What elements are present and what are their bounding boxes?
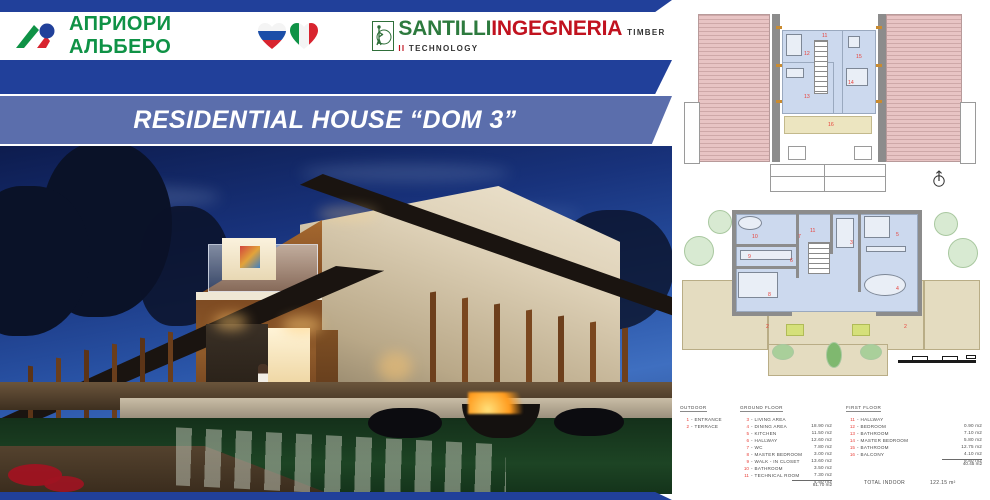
terrace-outline — [770, 164, 886, 192]
room-schedule-legend: OUTDOOR 1 - ENTRANCE 2 - TERRACE — [678, 396, 984, 496]
room-number: 11 — [822, 33, 827, 39]
legend-heading: OUTDOOR — [680, 405, 707, 412]
staircase — [814, 40, 828, 94]
legend-row: 2 - TERRACE — [680, 423, 736, 430]
legend-number: 11 — [740, 472, 749, 479]
bathtub — [738, 216, 762, 230]
plan-tree — [934, 212, 958, 236]
archer-icon — [372, 21, 394, 51]
legend-heading: GROUND FLOOR — [740, 405, 783, 412]
legend-number: 16 — [846, 451, 855, 458]
legend-number: 1 — [680, 416, 689, 423]
title-banner: RESIDENTIAL HOUSE “DOM 3” — [0, 96, 672, 144]
presentation-board: АПРИОРИ АЛЬБЕРО — [0, 0, 990, 500]
apriori-albero-name: АПРИОРИ АЛЬБЕРО — [69, 13, 222, 59]
plan-shrub — [860, 344, 882, 360]
first-floor-plan: 11 12 13 14 15 16 — [680, 6, 982, 196]
plan-shrub — [772, 344, 794, 360]
legend-number: 14 — [846, 437, 855, 444]
terrace-divider — [824, 164, 825, 192]
plan-wall — [732, 312, 792, 316]
plan-shrub — [826, 342, 842, 368]
legend-row: 16-BALCONY 9.80 m2 — [846, 451, 982, 458]
russia-heart-flag-icon — [256, 21, 288, 51]
legend-label: MASTER BEDROOM — [755, 451, 803, 458]
top-accent-bar — [0, 0, 672, 12]
room-number: 2 — [904, 324, 907, 330]
plan-wall — [876, 312, 922, 316]
legend-number: 15 — [846, 444, 855, 451]
plan-wall — [878, 14, 886, 162]
red-flowers — [44, 476, 84, 492]
legend-number: 10 — [740, 465, 749, 472]
legend-label: TERRACE — [695, 423, 719, 430]
legend-row: 6-HALLWAY 7.80 m2 — [740, 437, 832, 444]
legend-row: 8-MASTER BEDROOM 13.60 m2 — [740, 451, 832, 458]
logo-strip: АПРИОРИ АЛЬБЕРО — [0, 12, 672, 60]
legend-label: WC — [755, 444, 763, 451]
legend-number: 7 — [740, 444, 749, 451]
house-arrow-icon — [14, 21, 60, 51]
room-number: 11 — [810, 228, 815, 234]
staircase — [808, 242, 830, 274]
room-number: 10 — [752, 234, 758, 240]
legend-label: BATHROOM — [755, 465, 783, 472]
legend-label: ENTRANCE — [695, 416, 722, 423]
garden-pod — [368, 408, 442, 438]
eave-left — [684, 102, 700, 164]
tagline-timber: TIMBER — [627, 28, 665, 37]
apriori-albero-logo: АПРИОРИ АЛЬБЕРО — [14, 13, 222, 59]
legend-label: MASTER BEDROOM — [861, 437, 909, 444]
north-arrow-icon — [932, 170, 946, 193]
room-number: 13 — [804, 94, 810, 100]
room-number: 2 — [766, 324, 769, 330]
legend-subtotal-value: 81.70 m2 — [813, 482, 832, 487]
legend-label: HALLWAY — [861, 416, 884, 423]
partition-wall — [858, 214, 861, 292]
scale-bar — [898, 354, 976, 368]
room-number: 6 — [790, 258, 793, 264]
santilli-ingegneria-logo: SANTILLIINGEGNERIA TIMBER II TECHNOLOGY — [372, 18, 672, 55]
legend-label: BEDROOM — [861, 423, 887, 430]
legend-label: HALLWAY — [755, 437, 778, 444]
partition-wall — [736, 266, 796, 269]
vanity-furniture — [786, 68, 804, 78]
legend-row: 4-DINING AREA 11.50 m2 — [740, 423, 832, 430]
partition-wall — [736, 244, 796, 247]
room-number: 7 — [798, 234, 801, 240]
legend-row: 3-LIVING AREA 18.90 m2 — [740, 416, 832, 423]
legend-row: 7-WC 3.00 m2 — [740, 444, 832, 451]
legend-label: BALCONY — [861, 451, 885, 458]
plan-tree — [708, 210, 732, 234]
legend-label: BATHROOM — [861, 444, 889, 451]
legend-number: 8 — [740, 451, 749, 458]
door-symbol — [876, 64, 882, 67]
room-number: 14 — [848, 80, 854, 86]
roof-panel-right — [886, 14, 962, 162]
legend-row: 5-KITCHEN 12.60 m2 — [740, 430, 832, 437]
ground-floor-plan: 10 9 8 6 7 11 3 5 4 2 2 1 — [680, 202, 982, 392]
room-number: 12 — [804, 51, 810, 57]
legend-number: 4 — [740, 423, 749, 430]
plan-tree — [948, 238, 978, 268]
room-number: 16 — [828, 122, 834, 128]
flag-pair — [256, 21, 320, 51]
bed-furniture — [738, 272, 778, 298]
terrace-east — [924, 280, 980, 350]
legend-label: TECHNICAL ROOM — [755, 472, 800, 479]
legend-row: 10-BATHROOM 7.30 m2 — [740, 465, 832, 472]
plan-wall — [918, 210, 922, 316]
wall-light-glow — [378, 352, 412, 382]
door-symbol — [776, 64, 782, 67]
legend-number: 2 — [680, 423, 689, 430]
legend-label: DINING AREA — [755, 423, 787, 430]
plan-wall — [772, 14, 780, 162]
legend-column-first-floor: FIRST FLOOR 11-HALLWAY 0.90 m2 12-BEDROO… — [846, 396, 982, 488]
tagline-technology: TECHNOLOGY — [409, 44, 478, 53]
room-number: 4 — [896, 286, 899, 292]
door-symbol — [776, 26, 782, 29]
soffit-light-glow — [318, 206, 378, 222]
legend-subtotal-ground: 81.70 m2 — [740, 480, 832, 489]
legend-row: 11-TECHNICAL ROOM 4.50 m2 — [740, 472, 832, 479]
legend-row: 12-BEDROOM 7.10 m2 — [846, 423, 982, 430]
total-indoor-label: TOTAL INDOOR — [864, 480, 905, 486]
lawn-patch — [786, 324, 804, 336]
legend-number: 13 — [846, 430, 855, 437]
exterior-rendering — [0, 146, 672, 494]
garden-pod — [554, 408, 624, 436]
dining-table — [864, 274, 906, 296]
santilli-name-green: SANTILLI — [398, 17, 491, 40]
plan-tree — [684, 236, 714, 266]
room-number: 5 — [896, 232, 899, 238]
legend-label: WALK - IN CLOSET — [755, 458, 800, 465]
door-symbol — [876, 100, 882, 103]
ingegneria-name-red: INGEGNERIA — [491, 17, 621, 40]
terrace-stub — [854, 146, 872, 160]
legend-row: 11-HALLWAY 0.90 m2 — [846, 416, 982, 423]
door-symbol — [776, 100, 782, 103]
artwork — [240, 246, 260, 268]
legend-column-ground-floor: GROUND FLOOR 3-LIVING AREA 18.90 m2 4-DI… — [740, 396, 832, 489]
counter — [866, 246, 906, 252]
mid-accent-bar — [0, 60, 672, 94]
legend-row: 14-MASTER BEDROOM 12.75 m2 — [846, 437, 982, 444]
legend-number: 12 — [846, 423, 855, 430]
bottom-accent-bar — [0, 492, 672, 500]
room-number: 8 — [768, 292, 771, 298]
legend-number: 6 — [740, 437, 749, 444]
legend-row: 9-WALK - IN CLOSET 3.50 m2 — [740, 458, 832, 465]
legend-subtotal-value: 40.45 m2 — [963, 461, 982, 466]
partition-wall — [796, 214, 799, 278]
legend-number: 5 — [740, 430, 749, 437]
room-number: 15 — [856, 54, 862, 60]
legend-subtotal-first: 40.45 m2 — [846, 459, 982, 468]
terrace-divider — [770, 176, 886, 177]
right-panel: 11 12 13 14 15 16 — [672, 0, 990, 500]
legend-row: 15-BATHROOM 4.10 m2 — [846, 444, 982, 451]
legend-number: 3 — [740, 416, 749, 423]
legend-column-outdoor: OUTDOOR 1 - ENTRANCE 2 - TERRACE — [680, 396, 736, 430]
kitchen-units — [864, 216, 890, 238]
wall-light-glow — [214, 314, 248, 330]
legend-number: 9 — [740, 458, 749, 465]
lawn-patch — [852, 324, 870, 336]
santilli-wordmark: SANTILLIINGEGNERIA TIMBER II TECHNOLOGY — [398, 18, 672, 55]
legend-row: 1 - ENTRANCE — [680, 416, 736, 423]
eave-right — [960, 102, 976, 164]
door-symbol — [876, 26, 882, 29]
terrace-stub — [788, 146, 806, 160]
legend-label: BATHROOM — [861, 430, 889, 437]
left-panel: АПРИОРИ АЛЬБЕРО — [0, 0, 672, 500]
roof-panel-left — [698, 14, 770, 162]
wall-light-glow — [282, 316, 322, 334]
legend-row: 13-BATHROOM 5.80 m2 — [846, 430, 982, 437]
tagline-bars: II — [398, 44, 405, 53]
italy-heart-flag-icon — [288, 21, 320, 51]
legend-label: KITCHEN — [755, 430, 777, 437]
legend-label: LIVING AREA — [755, 416, 786, 423]
partition-wall — [830, 214, 833, 254]
bed-furniture — [786, 34, 802, 56]
room-number: 9 — [748, 254, 751, 260]
legend-number: 11 — [846, 416, 855, 423]
total-indoor-value: 122.15 m² — [930, 480, 956, 486]
shower-furniture — [848, 36, 860, 48]
room-number: 3 — [850, 240, 853, 246]
page-title: RESIDENTIAL HOUSE “DOM 3” — [133, 106, 516, 135]
legend-heading: FIRST FLOOR — [846, 405, 881, 412]
